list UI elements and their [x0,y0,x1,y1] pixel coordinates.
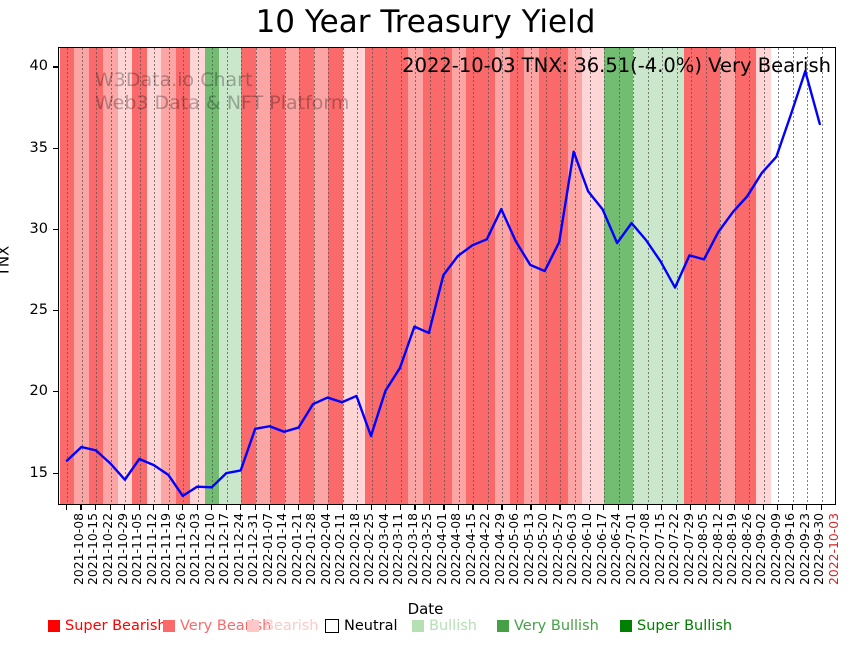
x-tick-label: 2022-07-22 [666,513,681,585]
x-tick-mark [589,505,590,510]
y-tick-label: 40 [30,58,48,74]
x-tick-label: 2021-12-10 [202,513,217,585]
x-tick-mark [719,505,720,510]
legend-label: Bearish [264,618,319,634]
x-tick-mark [647,505,648,510]
x-tick-mark [342,505,343,510]
x-tick-mark [168,505,169,510]
legend-label: Super Bearish [65,618,167,634]
x-tick-mark [269,505,270,510]
y-tick-label: 30 [30,221,48,237]
x-tick-mark [139,505,140,510]
x-tick-mark [429,505,430,510]
x-tick-label: 2022-09-09 [768,513,783,585]
x-tick-mark [661,505,662,510]
x-tick-mark [327,505,328,510]
x-tick-mark [80,505,81,510]
x-tick-label: 2022-07-08 [637,513,652,585]
x-tick-mark [632,505,633,510]
x-tick-mark [371,505,372,510]
y-axis-label: TNX [0,246,12,277]
y-tick-label: 20 [30,383,48,399]
x-tick-mark [806,505,807,510]
x-tick-label: 2022-02-04 [318,513,333,585]
x-tick-label: 2022-04-08 [448,513,463,585]
x-tick-label: 2021-12-03 [187,513,202,585]
x-tick-mark [516,505,517,510]
x-tick-mark [792,505,793,510]
x-tick-mark [458,505,459,510]
x-tick-mark [124,505,125,510]
legend-swatch-icon [48,620,60,632]
latest-value-annotation: 2022-10-03 TNX: 36.51(-4.0%) Very Bearis… [402,54,831,77]
x-tick-mark [211,505,212,510]
x-tick-mark [66,505,67,510]
x-tick-label: 2022-02-18 [347,513,362,585]
legend-label: Neutral [344,618,398,634]
tnx-polyline [67,71,820,496]
x-tick-mark [748,505,749,510]
x-tick-mark [545,505,546,510]
x-tick-mark [559,505,560,510]
x-tick-label: 2021-12-24 [231,513,246,585]
legend-item-bearish[interactable]: Bearish [247,618,319,634]
legend-item-super-bullish[interactable]: Super Bullish [620,618,732,634]
legend-swatch-icon [247,620,259,632]
x-tick-label: 2022-06-17 [594,513,609,585]
tnx-line-series [59,48,835,505]
x-tick-mark [821,505,822,510]
x-axis: 2021-10-082021-10-152021-10-222021-10-29… [58,505,836,605]
x-tick-mark [734,505,735,510]
x-tick-label: 2022-03-11 [390,513,405,585]
page-title: 10 Year Treasury Yield [0,4,851,40]
x-tick-mark [618,505,619,510]
x-tick-mark [487,505,488,510]
x-tick-mark [530,505,531,510]
x-tick-label: 2022-01-21 [289,513,304,585]
x-tick-label: 2022-02-25 [361,513,376,585]
legend-item-very-bullish[interactable]: Very Bullish [497,618,599,634]
x-tick-label: 2022-08-12 [710,513,725,585]
chart-root: 10 Year Treasury Yield 152025303540 TNX … [0,0,851,646]
x-tick-label: 2022-04-29 [492,513,507,585]
x-tick-label: 2021-11-19 [158,513,173,585]
x-tick-mark [763,505,764,510]
x-tick-mark [690,505,691,510]
x-tick-mark [110,505,111,510]
x-tick-label: 2021-11-12 [144,513,159,585]
x-tick-mark [443,505,444,510]
x-tick-mark [284,505,285,510]
x-tick-label: 2022-07-15 [652,513,667,585]
x-tick-label: 2022-03-25 [419,513,434,585]
x-tick-label: 2022-04-01 [434,513,449,585]
x-tick-label: 2022-09-02 [753,513,768,585]
y-tick-label: 15 [30,465,48,481]
x-tick-mark [153,505,154,510]
x-tick-label: 2021-12-17 [216,513,231,585]
x-tick-label: 2022-06-10 [579,513,594,585]
x-tick-mark [313,505,314,510]
x-tick-mark [414,505,415,510]
x-tick-label: 2022-05-06 [506,513,521,585]
legend-swatch-icon [497,620,509,632]
x-tick-label: 2022-01-07 [260,513,275,585]
x-tick-mark [255,505,256,510]
x-tick-label: 2022-08-26 [739,513,754,585]
legend-label: Super Bullish [637,618,732,634]
x-tick-mark [400,505,401,510]
x-tick-label: 2022-09-30 [811,513,826,585]
x-tick-label: 2022-08-19 [724,513,739,585]
x-tick-mark [197,505,198,510]
legend-item-bullish[interactable]: Bullish [412,618,477,634]
x-tick-label: 2022-04-15 [463,513,478,585]
x-tick-label: 2022-06-03 [564,513,579,585]
x-tick-label: 2021-11-05 [129,513,144,585]
x-tick-label: 2022-01-14 [274,513,289,585]
legend-swatch-icon [325,619,339,633]
x-tick-label: 2021-10-29 [115,513,130,585]
legend-item-super-bearish[interactable]: Super Bearish [48,618,167,634]
x-tick-mark [501,505,502,510]
x-tick-mark [298,505,299,510]
x-tick-label: 2022-06-24 [608,513,623,585]
x-tick-label: 2022-09-16 [782,513,797,585]
y-tick-label: 25 [30,302,48,318]
legend-item-neutral[interactable]: Neutral [325,618,398,634]
x-tick-label: 2022-03-18 [405,513,420,585]
x-tick-label: 2022-03-04 [376,513,391,585]
x-tick-mark [95,505,96,510]
x-tick-label: 2022-04-22 [477,513,492,585]
x-tick-mark [385,505,386,510]
legend-swatch-icon [412,620,424,632]
x-tick-label: 2021-12-31 [245,513,260,585]
legend-label: Very Bullish [514,618,599,634]
x-tick-label: 2022-05-20 [535,513,550,585]
x-tick-label: 2022-08-05 [695,513,710,585]
x-tick-label: 2022-07-29 [681,513,696,585]
x-tick-label: 2021-10-22 [100,513,115,585]
x-tick-label: 2022-05-13 [521,513,536,585]
x-tick-mark [240,505,241,510]
x-tick-label: 2022-09-23 [797,513,812,585]
x-tick-mark [705,505,706,510]
x-tick-mark [182,505,183,510]
x-tick-mark [676,505,677,510]
x-tick-mark [356,505,357,510]
plot-area[interactable]: W3Data.io Chart Web3 Data & NFT Platform… [58,47,836,505]
x-tick-mark [574,505,575,510]
x-axis-label: Date [0,600,851,618]
x-tick-mark [472,505,473,510]
x-tick-label: 2021-10-15 [85,513,100,585]
legend-swatch-icon [620,620,632,632]
x-tick-label: 2021-10-08 [71,513,86,585]
x-tick-mark [777,505,778,510]
x-tick-mark [603,505,604,510]
x-tick-label: 2022-01-28 [303,513,318,585]
x-tick-label: 2022-10-03 [826,513,841,585]
legend-label: Bullish [429,618,477,634]
legend-swatch-icon [163,620,175,632]
x-tick-label: 2022-02-11 [332,513,347,585]
x-tick-label: 2022-05-27 [550,513,565,585]
x-tick-mark [226,505,227,510]
x-tick-label: 2022-07-01 [623,513,638,585]
legend: Super BearishVery BearishBearishNeutralB… [0,618,851,640]
y-tick-label: 35 [30,140,48,156]
x-tick-label: 2021-11-26 [173,513,188,585]
